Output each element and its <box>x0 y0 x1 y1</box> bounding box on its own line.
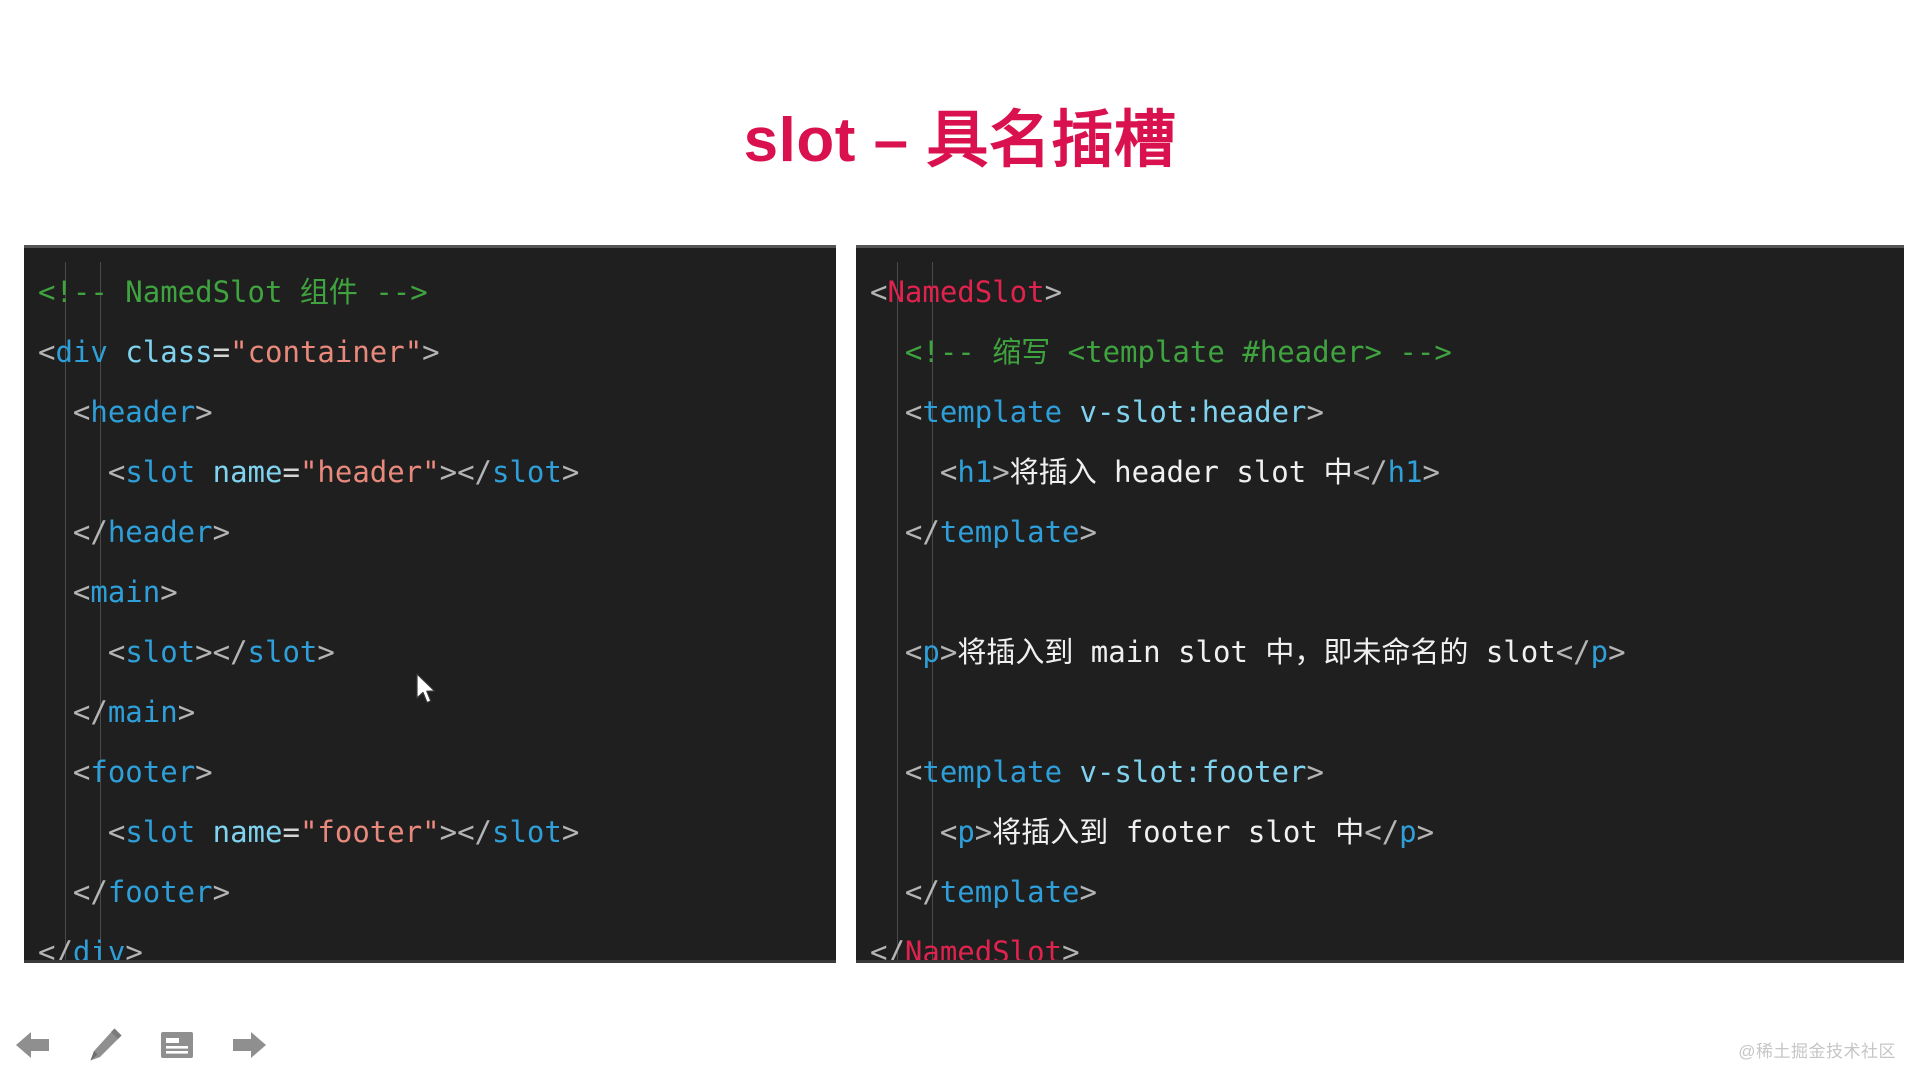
code-token-attr: name <box>213 815 283 849</box>
code-token-tag: footer <box>90 755 195 789</box>
code-token-punct: > <box>213 515 230 549</box>
arrow-right-glyph <box>229 1025 269 1065</box>
code-token-punct: > <box>440 815 457 849</box>
code-token-punct: </ <box>905 515 940 549</box>
code-token-tag: slot <box>125 455 195 489</box>
code-token-punct: < <box>905 395 922 429</box>
code-token-comp: NamedSlot <box>887 275 1044 309</box>
code-token-punct: > <box>195 635 212 669</box>
code-line: </footer> <box>38 862 830 922</box>
code-token-punct: </ <box>73 695 108 729</box>
arrow-left-glyph <box>13 1025 53 1065</box>
code-token-punct: < <box>108 815 125 849</box>
code-indent <box>870 815 940 849</box>
code-token-tag: slot <box>125 635 195 669</box>
page-title: slot – 具名插槽 <box>0 108 1920 175</box>
code-indent <box>870 635 905 669</box>
code-token-attr: name <box>213 455 283 489</box>
code-token-punct: > <box>195 755 212 789</box>
code-token-punct: > <box>975 815 992 849</box>
code-line: <main> <box>38 562 830 622</box>
code-indent <box>38 815 108 849</box>
code-token-punct: </ <box>73 875 108 909</box>
code-token-punct: < <box>108 455 125 489</box>
code-line <box>870 562 1898 622</box>
code-token-str: "footer" <box>300 815 440 849</box>
code-indent <box>870 395 905 429</box>
code-token-punct: > <box>1417 815 1434 849</box>
code-line: </NamedSlot> <box>870 922 1898 963</box>
code-line: <slot></slot> <box>38 622 830 682</box>
code-token-tag: h1 <box>957 455 992 489</box>
notes-icon[interactable] <box>154 1022 200 1068</box>
code-indent <box>38 575 73 609</box>
code-indent <box>38 755 73 789</box>
code-token-punct: </ <box>1353 455 1388 489</box>
code-token-punct: < <box>905 635 922 669</box>
code-token-text_space <box>108 335 125 369</box>
code-token-tag: slot <box>125 815 195 849</box>
code-token-attr: v-slot:header <box>1080 395 1307 429</box>
code-token-punct: > <box>1307 395 1324 429</box>
code-indent <box>870 755 905 789</box>
code-token-punct: < <box>73 575 90 609</box>
code-token-punct: </ <box>905 875 940 909</box>
code-token-text: 将插入到 main slot 中，即未命名的 slot <box>957 635 1555 669</box>
code-panel-component-definition: <!-- NamedSlot 组件 --><div class="contain… <box>24 245 836 963</box>
code-token-tag: footer <box>108 875 213 909</box>
pencil-icon[interactable] <box>82 1022 128 1068</box>
code-token-punct: > <box>422 335 439 369</box>
code-token-punct: < <box>73 755 90 789</box>
code-token-punct: > <box>1608 635 1625 669</box>
code-line: <NamedSlot> <box>870 262 1898 322</box>
code-token-punct: < <box>940 455 957 489</box>
code-indent <box>870 335 905 369</box>
code-token-punct: < <box>870 275 887 309</box>
arrow-right-icon[interactable] <box>226 1022 272 1068</box>
code-token-punct: > <box>1423 455 1440 489</box>
code-token-text: 将插入到 footer slot 中 <box>992 815 1364 849</box>
arrow-left-icon[interactable] <box>10 1022 56 1068</box>
code-indent <box>38 395 73 429</box>
code-line: </div> <box>38 922 830 963</box>
code-token-tag: h1 <box>1388 455 1423 489</box>
code-line: <slot name="header"></slot> <box>38 442 830 502</box>
code-token-punct: > <box>317 635 334 669</box>
code-token-punct: < <box>38 335 55 369</box>
code-token-punct: > <box>992 455 1009 489</box>
code-token-comment: <!-- 缩写 <template #header> --> <box>905 335 1452 369</box>
code-token-tag: template <box>940 515 1080 549</box>
code-token-punct: > <box>160 575 177 609</box>
slide-root: slot – 具名插槽 <!-- NamedSlot 组件 --><div cl… <box>0 0 1920 1080</box>
pencil-glyph <box>85 1025 125 1065</box>
code-line: <template v-slot:footer> <box>870 742 1898 802</box>
code-token-punct: </ <box>870 935 905 963</box>
code-token-punct: > <box>1080 515 1097 549</box>
code-indent <box>38 515 73 549</box>
code-line: </main> <box>38 682 830 742</box>
code-token-tag: template <box>922 755 1062 789</box>
watermark: @稀土掘金技术社区 <box>1738 1037 1896 1062</box>
code-indent <box>38 455 108 489</box>
code-indent <box>38 635 108 669</box>
code-token-punct: > <box>1307 755 1324 789</box>
code-line: <p>将插入到 main slot 中，即未命名的 slot</p> <box>870 622 1898 682</box>
code-indent <box>38 695 73 729</box>
presenter-toolbar <box>10 1022 272 1068</box>
code-token-tag: header <box>108 515 213 549</box>
code-line: <!-- 缩写 <template #header> --> <box>870 322 1898 382</box>
code-token-str: "container" <box>230 335 422 369</box>
code-line: </template> <box>870 502 1898 562</box>
code-token-punct: </ <box>1364 815 1399 849</box>
code-token-eq: = <box>213 335 230 369</box>
code-token-tag: slot <box>492 455 562 489</box>
code-line: <h1>将插入 header slot 中</h1> <box>870 442 1898 502</box>
code-token-tag: div <box>73 935 125 963</box>
code-token-text_space <box>195 815 212 849</box>
code-token-punct: < <box>108 635 125 669</box>
code-token-punct: < <box>940 815 957 849</box>
code-token-punct: > <box>562 455 579 489</box>
code-token-punct: > <box>213 875 230 909</box>
code-token-comp: NamedSlot <box>905 935 1062 963</box>
code-line: <footer> <box>38 742 830 802</box>
code-token-str: "header" <box>300 455 440 489</box>
code-token-tag: header <box>90 395 195 429</box>
code-token-punct: < <box>73 395 90 429</box>
code-token-punct: > <box>562 815 579 849</box>
code-token-attr: class <box>125 335 212 369</box>
code-token-punct: > <box>178 695 195 729</box>
code-token-punct: > <box>1062 935 1079 963</box>
code-line: <!-- NamedSlot 组件 --> <box>38 262 830 322</box>
code-token-tag: p <box>1399 815 1416 849</box>
code-token-punct: </ <box>457 455 492 489</box>
code-comparison-area: <!-- NamedSlot 组件 --><div class="contain… <box>24 245 1904 963</box>
code-token-text_space <box>1062 755 1079 789</box>
code-token-tag: p <box>957 815 974 849</box>
code-token-punct: </ <box>457 815 492 849</box>
code-token-attr: v-slot:footer <box>1080 755 1307 789</box>
code-token-tag: slot <box>492 815 562 849</box>
code-indent <box>870 875 905 909</box>
code-token-tag: slot <box>248 635 318 669</box>
code-token-punct: </ <box>213 635 248 669</box>
code-line <box>870 682 1898 742</box>
code-token-eq: = <box>282 455 299 489</box>
code-line: <div class="container"> <box>38 322 830 382</box>
code-line: </template> <box>870 862 1898 922</box>
code-line: <slot name="footer"></slot> <box>38 802 830 862</box>
code-panel-component-usage: <NamedSlot> <!-- 缩写 <template #header> -… <box>856 245 1904 963</box>
code-token-text: 将插入 header slot 中 <box>1010 455 1353 489</box>
code-line: <header> <box>38 382 830 442</box>
code-token-punct: > <box>440 455 457 489</box>
code-token-punct: > <box>1080 875 1097 909</box>
code-token-tag: p <box>1591 635 1608 669</box>
code-token-punct: > <box>195 395 212 429</box>
code-token-comment: <!-- NamedSlot 组件 --> <box>38 275 428 309</box>
code-indent <box>870 515 905 549</box>
code-token-text_space <box>195 455 212 489</box>
code-token-eq: = <box>282 815 299 849</box>
code-indent <box>38 875 73 909</box>
code-token-tag: main <box>90 575 160 609</box>
code-line: <template v-slot:header> <box>870 382 1898 442</box>
code-token-punct: > <box>940 635 957 669</box>
code-token-tag: p <box>922 635 939 669</box>
code-token-tag: main <box>108 695 178 729</box>
code-token-punct: </ <box>73 515 108 549</box>
code-token-tag: template <box>940 875 1080 909</box>
code-indent <box>870 455 940 489</box>
code-line: <p>将插入到 footer slot 中</p> <box>870 802 1898 862</box>
notes-glyph <box>157 1025 197 1065</box>
code-token-punct: </ <box>38 935 73 963</box>
code-token-tag: div <box>55 335 107 369</box>
code-token-text_space <box>1062 395 1079 429</box>
code-token-punct: > <box>125 935 142 963</box>
code-token-punct: > <box>1045 275 1062 309</box>
code-line: </header> <box>38 502 830 562</box>
code-token-punct: </ <box>1556 635 1591 669</box>
code-token-tag: template <box>922 395 1062 429</box>
code-token-punct: < <box>905 755 922 789</box>
